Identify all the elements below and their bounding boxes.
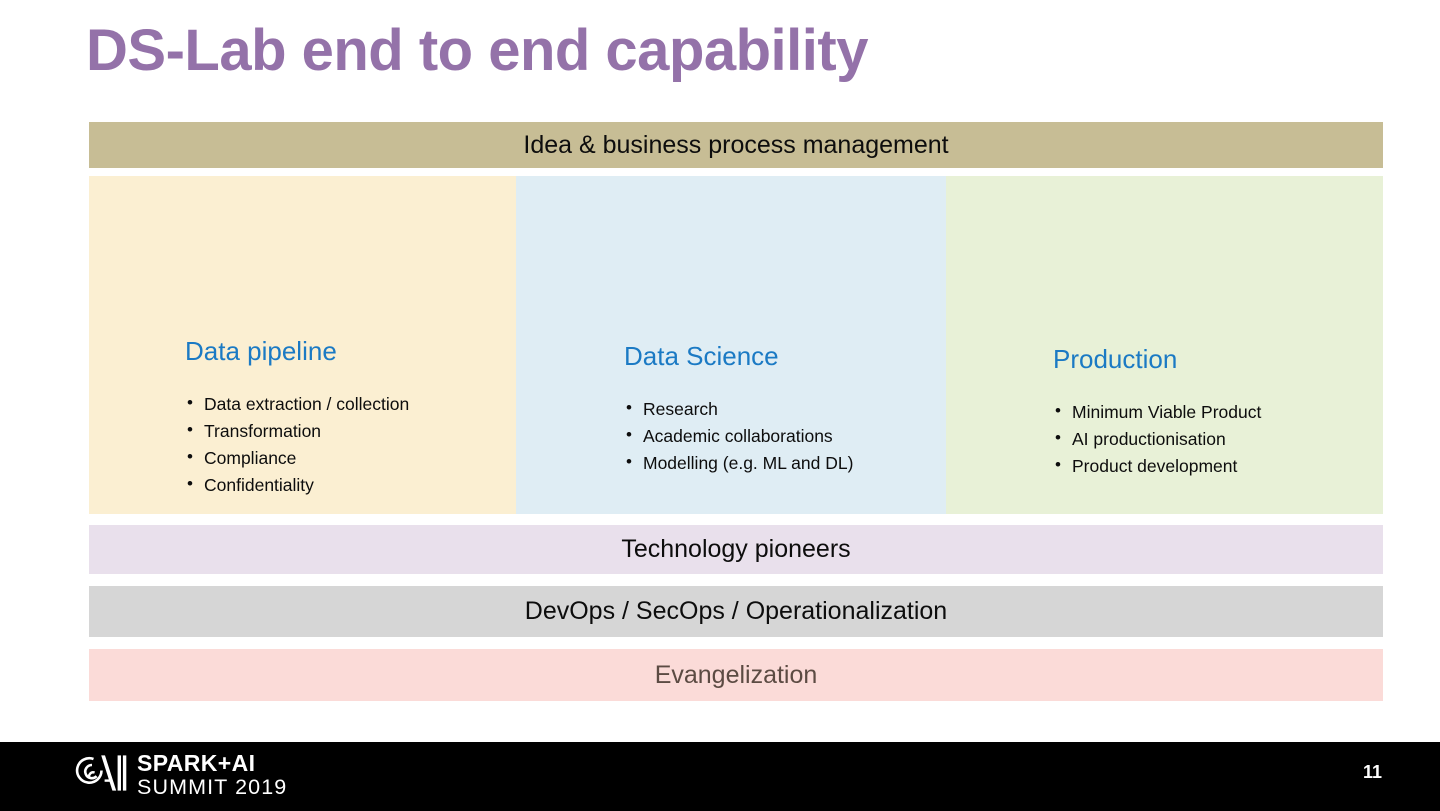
- page-title: DS-Lab end to end capability: [86, 16, 1286, 86]
- column-heading-data-pipeline: Data pipeline: [185, 336, 337, 367]
- column-data-science: Data Science Research Academic collabora…: [516, 176, 946, 514]
- band-idea-business-process-management: Idea & business process management: [89, 122, 1383, 168]
- spark-ai-summit-spiral-mark-icon: [70, 752, 128, 799]
- band-technology-pioneers: Technology pioneers: [89, 525, 1383, 574]
- page-number: 11: [1363, 762, 1382, 783]
- list-item: Academic collaborations: [626, 423, 853, 450]
- band-evangelization: Evangelization: [89, 649, 1383, 701]
- column-list-production: Minimum Viable Product AI productionisat…: [1055, 399, 1261, 480]
- brand-line-spark-ai: SPARK+AI: [137, 752, 287, 775]
- list-item: Transformation: [187, 418, 409, 445]
- column-list-data-pipeline: Data extraction / collection Transformat…: [187, 391, 409, 500]
- band-devops-secops-operationalization: DevOps / SecOps / Operationalization: [89, 586, 1383, 637]
- brand-wordmark: SPARK+AI SUMMIT 2019: [137, 752, 287, 799]
- list-item: AI productionisation: [1055, 426, 1261, 453]
- column-data-pipeline: Data pipeline Data extraction / collecti…: [89, 176, 516, 514]
- list-item: Minimum Viable Product: [1055, 399, 1261, 426]
- column-heading-production: Production: [1053, 344, 1177, 375]
- brand-lockup: SPARK+AI SUMMIT 2019: [70, 752, 287, 798]
- list-item: Research: [626, 396, 853, 423]
- band-technology-pioneers-label: Technology pioneers: [621, 535, 850, 564]
- capability-columns: Data pipeline Data extraction / collecti…: [89, 176, 1383, 514]
- list-item: Confidentiality: [187, 472, 409, 499]
- band-evangelization-label: Evangelization: [655, 661, 818, 690]
- list-item: Product development: [1055, 453, 1261, 480]
- list-item: Compliance: [187, 445, 409, 472]
- column-list-data-science: Research Academic collaborations Modelli…: [626, 396, 853, 477]
- capability-diagram: Idea & business process management Data …: [89, 122, 1383, 701]
- column-heading-data-science: Data Science: [624, 341, 779, 372]
- list-item: Data extraction / collection: [187, 391, 409, 418]
- band-idea-label: Idea & business process management: [523, 131, 948, 160]
- band-devops-label: DevOps / SecOps / Operationalization: [525, 597, 947, 626]
- column-production: Production Minimum Viable Product AI pro…: [946, 176, 1383, 514]
- list-item: Modelling (e.g. ML and DL): [626, 450, 853, 477]
- brand-line-summit-2019: SUMMIT 2019: [137, 777, 287, 799]
